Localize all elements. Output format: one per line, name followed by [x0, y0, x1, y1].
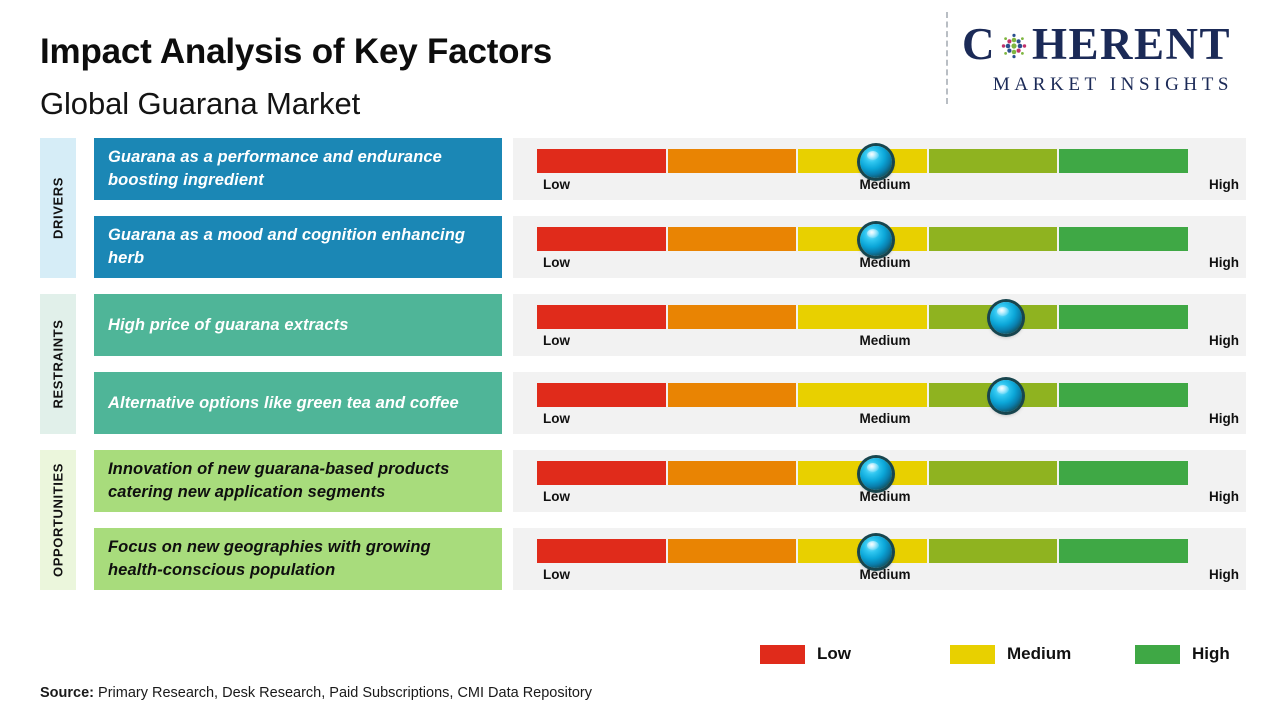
gauge-segment-2 — [668, 461, 797, 485]
gauge-segment-5 — [1059, 227, 1188, 251]
factor-card-text: Guarana as a mood and cognition enhancin… — [108, 224, 488, 270]
gauge-segment-4 — [929, 539, 1058, 563]
logo-divider — [946, 12, 948, 104]
header: Impact Analysis of Key Factors Global Gu… — [0, 0, 1280, 132]
factor-card[interactable]: Guarana as a performance and endurance b… — [94, 138, 502, 200]
gauge-marker[interactable] — [860, 536, 892, 568]
gauge-label-low: Low — [543, 411, 570, 426]
group-label: DRIVERS — [51, 177, 66, 239]
legend-label: High — [1192, 644, 1230, 664]
gauge-track — [537, 383, 1188, 407]
gauge-column: LowMediumHighLowMediumHighLowMediumHighL… — [513, 138, 1246, 616]
gauge-label-low: Low — [543, 333, 570, 348]
gauge-label-high: High — [1209, 411, 1239, 426]
gauge-segment-1 — [537, 539, 666, 563]
gauge-segment-3 — [798, 383, 927, 407]
factor-card[interactable]: High price of guarana extracts — [94, 294, 502, 356]
gauge-segment-2 — [668, 227, 797, 251]
factor-card[interactable]: Focus on new geographies with growing he… — [94, 528, 502, 590]
factor-card-text: Alternative options like green tea and c… — [108, 392, 459, 415]
gauge-segment-3 — [798, 305, 927, 329]
factor-group-restraints: RESTRAINTSHigh price of guarana extracts… — [40, 294, 502, 434]
gauge-label-med: Medium — [859, 177, 910, 192]
group-label: OPPORTUNITIES — [51, 463, 66, 577]
gauge-segment-1 — [537, 383, 666, 407]
source-line: Source: Primary Research, Desk Research,… — [40, 685, 592, 701]
gauge-segment-1 — [537, 305, 666, 329]
gauge-segment-1 — [537, 461, 666, 485]
gauge-scale-labels: LowMediumHigh — [537, 333, 1233, 351]
company-logo: C HERENT MARKET INSIGHTS — [962, 18, 1262, 104]
gauge-marker[interactable] — [990, 380, 1022, 412]
infographic-page: Impact Analysis of Key Factors Global Gu… — [0, 0, 1280, 720]
page-subtitle: Global Guarana Market — [40, 86, 360, 122]
gauge-segment-5 — [1059, 383, 1188, 407]
gauge-segment-2 — [668, 149, 797, 173]
logo-tagline: MARKET INSIGHTS — [964, 74, 1262, 96]
legend-item: Medium — [950, 644, 1071, 664]
gauge-label-low: Low — [543, 567, 570, 582]
gauge-scale-labels: LowMediumHigh — [537, 411, 1233, 429]
impact-gauge: LowMediumHigh — [513, 528, 1246, 590]
impact-gauge: LowMediumHigh — [513, 450, 1246, 512]
legend: LowMediumHigh — [760, 644, 1220, 674]
factor-card-text: Guarana as a performance and endurance b… — [108, 146, 488, 192]
gauge-label-high: High — [1209, 333, 1239, 348]
group-cards: Innovation of new guarana-based products… — [94, 450, 502, 590]
gauge-label-low: Low — [543, 255, 570, 270]
impact-gauge: LowMediumHigh — [513, 294, 1246, 356]
group-strip-restraints: RESTRAINTS — [40, 294, 76, 434]
factor-card[interactable]: Innovation of new guarana-based products… — [94, 450, 502, 512]
legend-item: High — [1135, 644, 1230, 664]
legend-swatch-medium — [950, 645, 995, 664]
gauge-label-high: High — [1209, 489, 1239, 504]
gauge-label-med: Medium — [859, 567, 910, 582]
gauge-label-med: Medium — [859, 411, 910, 426]
gauge-track — [537, 305, 1188, 329]
legend-swatch-high — [1135, 645, 1180, 664]
gauge-marker[interactable] — [990, 302, 1022, 334]
logo-letters-herent: HERENT — [1032, 19, 1231, 69]
gauge-marker[interactable] — [860, 458, 892, 490]
group-strip-opportunities: OPPORTUNITIES — [40, 450, 76, 590]
legend-label: Medium — [1007, 644, 1071, 664]
factor-card[interactable]: Alternative options like green tea and c… — [94, 372, 502, 434]
gauge-marker[interactable] — [860, 146, 892, 178]
gauge-label-high: High — [1209, 255, 1239, 270]
page-title: Impact Analysis of Key Factors — [40, 32, 552, 72]
gauge-segment-2 — [668, 539, 797, 563]
factor-group-drivers: DRIVERSGuarana as a performance and endu… — [40, 138, 502, 278]
gauge-scale-labels: LowMediumHigh — [537, 255, 1233, 273]
gauge-segment-5 — [1059, 461, 1188, 485]
factor-card[interactable]: Guarana as a mood and cognition enhancin… — [94, 216, 502, 278]
group-cards: Guarana as a performance and endurance b… — [94, 138, 502, 278]
factor-card-text: Innovation of new guarana-based products… — [108, 458, 488, 504]
gauge-scale-labels: LowMediumHigh — [537, 177, 1233, 195]
gauge-scale-labels: LowMediumHigh — [537, 567, 1233, 585]
gauge-segment-1 — [537, 227, 666, 251]
gauge-scale-labels: LowMediumHigh — [537, 489, 1233, 507]
gauge-label-med: Medium — [859, 333, 910, 348]
gauge-segment-2 — [668, 305, 797, 329]
logo-letter-c: C — [962, 19, 996, 69]
group-label: RESTRAINTS — [51, 319, 66, 408]
factor-group-opportunities: OPPORTUNITIESInnovation of new guarana-b… — [40, 450, 502, 590]
gauge-segment-4 — [929, 461, 1058, 485]
factor-card-text: High price of guarana extracts — [108, 314, 349, 337]
legend-item: Low — [760, 644, 851, 664]
gauge-segment-5 — [1059, 539, 1188, 563]
gauge-label-med: Medium — [859, 489, 910, 504]
impact-gauge: LowMediumHigh — [513, 372, 1246, 434]
factor-card-text: Focus on new geographies with growing he… — [108, 536, 488, 582]
gauge-label-high: High — [1209, 177, 1239, 192]
source-label: Source: — [40, 685, 94, 701]
impact-gauge: LowMediumHigh — [513, 216, 1246, 278]
gauge-label-high: High — [1209, 567, 1239, 582]
gauge-segment-5 — [1059, 149, 1188, 173]
globe-icon — [997, 22, 1031, 56]
gauge-segment-2 — [668, 383, 797, 407]
gauge-segment-1 — [537, 149, 666, 173]
gauge-label-low: Low — [543, 489, 570, 504]
source-text: Primary Research, Desk Research, Paid Su… — [94, 685, 592, 701]
gauge-label-low: Low — [543, 177, 570, 192]
legend-swatch-low — [760, 645, 805, 664]
impact-gauge: LowMediumHigh — [513, 138, 1246, 200]
gauge-marker[interactable] — [860, 224, 892, 256]
group-cards: High price of guarana extractsAlternativ… — [94, 294, 502, 434]
group-strip-drivers: DRIVERS — [40, 138, 76, 278]
gauge-segment-5 — [1059, 305, 1188, 329]
gauge-segment-4 — [929, 227, 1058, 251]
logo-wordmark: C HERENT — [962, 18, 1262, 70]
impact-matrix: DRIVERSGuarana as a performance and endu… — [0, 138, 1280, 616]
legend-label: Low — [817, 644, 851, 664]
gauge-segment-4 — [929, 149, 1058, 173]
gauge-label-med: Medium — [859, 255, 910, 270]
